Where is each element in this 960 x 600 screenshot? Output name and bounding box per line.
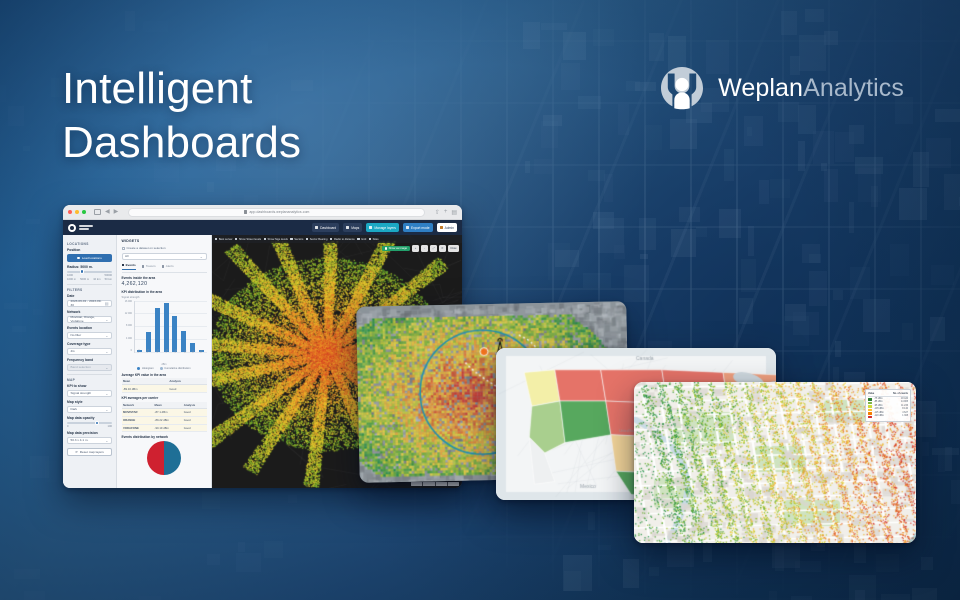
antenna-icon xyxy=(142,265,145,268)
radius-step-2: 10 km xyxy=(93,278,100,281)
chart-legend-item-0: Histogram xyxy=(137,367,153,370)
widgets-selection-select[interactable]: All⌄ xyxy=(122,253,207,261)
map-chip-sector-bearing[interactable]: Sector Bearing xyxy=(306,238,328,241)
sidebar-section-locations: LOCATIONS xyxy=(67,242,112,246)
header-button-manage-layers-label: Manage layers xyxy=(374,226,396,230)
sidebar-label-coverage: Coverage type xyxy=(67,342,112,346)
carrier-analysis: Good xyxy=(182,409,206,417)
map-chip-label: Sectors xyxy=(294,238,303,241)
chart-x-axis: -120-115-110-105-100-95-90-85 xyxy=(134,353,207,363)
legend-title: Value xyxy=(868,392,893,395)
carrier-col-analysis: Analysis xyxy=(182,402,206,409)
zoom-out-button[interactable]: - xyxy=(421,245,428,252)
map-chip-sigs-levels[interactable]: Show Sigs levels xyxy=(264,238,288,241)
forward-icon[interactable]: ▶ xyxy=(114,209,119,215)
carrier-col-network: Network xyxy=(122,402,154,409)
chart-legend-item-1: Cumulative distribution xyxy=(160,367,191,370)
date-range-input[interactable]: 2023-09-01 - 2023-09-30▤ xyxy=(67,300,112,308)
sector-icon xyxy=(290,238,292,240)
legend-row: -120 dBm1 308 xyxy=(868,415,908,418)
widgets-title: WIDGETS xyxy=(122,239,207,243)
carrier-mean: -87.1 dBm xyxy=(153,409,182,417)
legend-label: -120 dBm xyxy=(874,415,900,418)
tab-towers-label: Towers xyxy=(146,264,156,268)
events-location-value: No filter xyxy=(71,333,82,337)
carrier-mean: -90.19 dBm xyxy=(153,424,182,432)
chart-y-tick: 0 xyxy=(131,350,132,352)
chart-y-tick: 16 000 xyxy=(125,301,132,303)
widgets-panel[interactable]: WIDGETS Create a dataset on selection Al… xyxy=(117,235,212,488)
app-header: Dashboard Maps Manage layers Export mode… xyxy=(63,220,462,235)
sidebar-label-frequency: Frequency band xyxy=(67,358,112,362)
carrier-network: MOVISTAR xyxy=(122,409,154,417)
tab-alerts[interactable]: Alerts xyxy=(162,263,174,270)
zoom-in-button[interactable]: + xyxy=(412,245,419,252)
maximize-icon[interactable] xyxy=(82,210,86,214)
legend-swatch xyxy=(868,398,872,401)
carrier-analysis: Good xyxy=(182,416,206,424)
url-bar[interactable]: app.dashboards.weplananalytics.com xyxy=(128,208,425,217)
legend-swatch xyxy=(868,409,872,412)
sidebar-label-radius: Radius: 5000 m. xyxy=(67,265,112,269)
chart-plot-area xyxy=(134,301,207,353)
checkbox-icon xyxy=(122,247,125,250)
share-icon[interactable]: ⇧ xyxy=(435,209,440,216)
coverage-type-value: 4G xyxy=(71,349,75,353)
chart-x-label: dBm xyxy=(122,363,207,366)
carrier-kpi-table: Network Mean Analysis MOVISTAR -87.1 dBm… xyxy=(122,402,207,433)
radius-step-1: 5000 m xyxy=(80,278,89,281)
kpi-distribution-chart: 16 00012 0008 0004 0000 xyxy=(122,301,207,353)
map-chip-label: Radio to distance xyxy=(334,238,355,241)
show-as-image-button[interactable]: Show as image xyxy=(382,246,410,252)
avg-kpi-mean-value: -89.16 dBm xyxy=(122,385,168,393)
reset-map-layers-label: Reset map layers xyxy=(80,450,104,454)
sidebar-label-opacity: Map data opacity xyxy=(67,416,112,420)
app-logo-mark-icon xyxy=(68,224,76,232)
sidebar-label-kpi: KPI to show xyxy=(67,384,112,388)
radius-tick-max: 50000 xyxy=(105,274,112,277)
map-chip-label: Sector Bearing xyxy=(310,238,328,241)
header-button-export-mode[interactable]: Export mode xyxy=(403,223,433,232)
header-button-maps-label: Maps xyxy=(351,226,359,230)
kpi-value: Signal strength xyxy=(71,391,92,395)
kpi-select[interactable]: Signal strength⌄ xyxy=(67,390,112,398)
header-button-dashboard-label: Dashboard xyxy=(320,226,336,230)
radius-tick-min: 1000 xyxy=(67,274,73,277)
opacity-slider[interactable]: 0 100 xyxy=(67,422,112,428)
create-dataset-checkbox[interactable]: Create a dataset on selection xyxy=(122,246,207,250)
weplan-circle-logo-icon xyxy=(658,64,706,112)
plus-icon[interactable]: + xyxy=(444,209,448,215)
ruler-icon xyxy=(330,238,332,240)
carrier-col-mean: Mean xyxy=(153,402,182,409)
legend-count: 1 308 xyxy=(902,415,908,418)
show-as-image-label: Show as image xyxy=(389,247,407,250)
street-icon xyxy=(235,238,237,240)
avg-kpi-col-mean: Mean xyxy=(122,378,168,385)
header-button-admin-label: Admin xyxy=(445,226,454,230)
map-chip-sectors[interactable]: Sectors xyxy=(290,238,303,241)
export-icon xyxy=(406,226,409,229)
legend-rows: -75 dBm18 420-85 dBm14 905-95 dBm11 233-… xyxy=(868,398,908,419)
tab-events[interactable]: Events xyxy=(122,263,136,270)
table-header-row: Mean Analysis xyxy=(122,378,207,385)
brand-name-primary: Weplan xyxy=(718,74,803,102)
reset-map-layers-button[interactable]: ↺Reset map layers xyxy=(67,448,112,456)
kpi-chart-subtitle: Signal strength xyxy=(122,296,207,299)
load-locations-label: Load locations xyxy=(82,256,102,260)
pie-shape xyxy=(147,441,181,475)
sidebar-label-position: Position xyxy=(67,248,112,252)
tower-icon xyxy=(369,238,371,240)
minimize-icon[interactable] xyxy=(75,210,79,214)
chevron-down-icon: ⌄ xyxy=(105,391,108,396)
carrier-mean: -89.22 dBm xyxy=(153,416,182,424)
table-row: ORANGE -89.22 dBm Good xyxy=(122,416,207,424)
brand-name-secondary: Analytics xyxy=(803,74,904,102)
chart-y-axis: 16 00012 0008 0004 0000 xyxy=(122,301,134,353)
chart-bar xyxy=(172,316,177,351)
grid-icon xyxy=(357,238,359,240)
page-title: Intelligent Dashboards xyxy=(62,62,301,169)
legend-swatch xyxy=(868,412,872,415)
map-precision-select[interactable]: 50.3 x 4.1 m.⌄ xyxy=(67,437,112,445)
chart-bar xyxy=(181,331,186,351)
opacity-tick-max: 100 xyxy=(108,425,112,428)
events-inside-value: 4,262,120 xyxy=(122,281,207,287)
header-button-admin[interactable]: Admin xyxy=(437,223,457,232)
network-pie-chart xyxy=(122,441,207,475)
grid-icon xyxy=(315,226,318,229)
chevron-down-icon: ⌄ xyxy=(105,407,108,412)
chart-bar xyxy=(164,303,169,351)
app-logo-text xyxy=(79,225,93,229)
chevron-down-icon: ⌄ xyxy=(105,438,108,443)
frequency-band-select[interactable]: Band selection⌄ xyxy=(67,364,112,372)
chevron-down-icon: ⌄ xyxy=(200,254,203,259)
table-row: -89.16 dBm Good xyxy=(122,385,207,393)
radius-step-0: 1000 m xyxy=(67,278,76,281)
map-chip-street-levels[interactable]: Show Street levels xyxy=(235,238,261,241)
map-chip-label: Show Sigs levels xyxy=(268,238,288,241)
window-controls[interactable] xyxy=(68,210,86,214)
browser-toolbar: ◀ ▶ app.dashboards.weplananalytics.com ⇧… xyxy=(63,205,462,220)
legend-swatch xyxy=(868,405,872,408)
events-inside-heading: Events inside the area xyxy=(122,276,207,280)
header-button-dashboard[interactable]: Dashboard xyxy=(312,223,339,232)
chevron-down-icon: ⌄ xyxy=(105,349,108,354)
load-locations-button[interactable]: Load locations xyxy=(67,254,112,262)
map-chip-radio-distance[interactable]: Radio to distance xyxy=(330,238,355,241)
legend-swatch xyxy=(868,416,872,419)
date-range-value: 2023-09-01 - 2023-09-30 xyxy=(71,299,105,307)
avg-kpi-heading: Average KPI value in the area xyxy=(122,373,207,377)
signal-icon xyxy=(264,238,266,240)
close-icon[interactable] xyxy=(68,210,72,214)
pin-icon xyxy=(77,257,80,260)
app-logo[interactable] xyxy=(68,224,93,232)
draw-button[interactable]: Draw xyxy=(448,245,459,252)
lock-icon xyxy=(244,210,247,214)
city-street-heatmap-card[interactable]: Value No. of events -75 dBm18 420-85 dBm… xyxy=(634,382,916,543)
sidebar-label-events-location: Events location xyxy=(67,326,112,330)
table-row: MOVISTAR -87.1 dBm Good xyxy=(122,409,207,417)
carrier-kpi-heading: KPI averages per carrier xyxy=(122,396,207,400)
radius-slider[interactable]: 1000 50000 1000 m 5000 m 10 km 50 km xyxy=(67,271,112,281)
chevron-down-icon: ⌄ xyxy=(105,317,108,322)
bearing-icon xyxy=(306,238,308,240)
carrier-network: ORANGE xyxy=(122,416,154,424)
tab-events-label: Events xyxy=(126,263,136,267)
sidebar-label-date: Date xyxy=(67,294,112,298)
header-button-export-mode-label: Export mode xyxy=(411,226,430,230)
legend-column: No. of events xyxy=(893,392,908,395)
map-controls[interactable]: Show as image + - ⤢ ⟳ Draw xyxy=(382,245,459,252)
chart-y-tick: 4 000 xyxy=(126,338,132,340)
sidebar-label-map-style: Map style xyxy=(67,400,112,404)
layers-icon xyxy=(369,226,372,229)
sidebar-divider-2 xyxy=(67,374,112,375)
chevron-down-icon: ⌄ xyxy=(105,365,108,370)
sidebar-divider xyxy=(67,284,112,285)
refresh-icon: ↺ xyxy=(75,450,78,454)
carrier-network: VODAFONE xyxy=(122,424,154,432)
header-button-maps[interactable]: Maps xyxy=(343,223,362,232)
avg-kpi-col-analysis: Analysis xyxy=(168,378,207,385)
map-legend: Value No. of events -75 dBm18 420-85 dBm… xyxy=(865,389,911,422)
warning-icon xyxy=(162,265,165,268)
table-row: VODAFONE -90.19 dBm Good xyxy=(122,424,207,432)
bolt-icon xyxy=(122,264,125,267)
map-icon xyxy=(346,226,349,229)
tab-alerts-label: Alerts xyxy=(166,264,174,268)
map-chip-label: Sites xyxy=(373,238,379,241)
sidebar-section-filters: FILTERS xyxy=(67,288,112,292)
map-chip-grid[interactable]: Grid xyxy=(357,238,366,241)
chart-legend: Histogram Cumulative distribution xyxy=(122,367,207,370)
camera-icon xyxy=(385,247,387,249)
chart-bar xyxy=(155,308,160,351)
carrier-analysis: Good xyxy=(182,424,206,432)
map-style-value: Dark xyxy=(71,407,78,411)
frequency-band-value: Band selection xyxy=(71,365,91,369)
network-value: Movistar, Orange, Vodafone xyxy=(71,315,106,323)
events-location-select[interactable]: No filter⌄ xyxy=(67,332,112,340)
sidebar-label-network: Network xyxy=(67,310,112,314)
map-chip-label: Show Street levels xyxy=(239,238,261,241)
table-header-row: Network Mean Analysis xyxy=(122,402,207,409)
sidebar-label-precision: Map data precision xyxy=(67,431,112,435)
map-chip-sites[interactable]: Sites xyxy=(369,238,379,241)
sidebar-panel[interactable]: LOCATIONS Position Load locations Radius… xyxy=(63,235,117,488)
header-button-manage-layers[interactable]: Manage layers xyxy=(366,223,399,232)
brand-wordmark: WeplanAnalytics xyxy=(718,74,904,103)
chart-y-tick: 8 000 xyxy=(126,325,132,327)
pie-heading: Events distribution by network xyxy=(122,435,207,439)
radius-step-3: 50 km xyxy=(105,278,112,281)
fullscreen-button[interactable]: ⤢ xyxy=(430,245,437,252)
server-icon xyxy=(215,238,217,240)
tab-towers[interactable]: Towers xyxy=(142,263,156,270)
sidebar-toggle-icon[interactable] xyxy=(94,209,101,215)
map-scale-bar xyxy=(411,482,459,486)
brand-lockup: WeplanAnalytics xyxy=(658,64,904,112)
chart-y-tick: 12 000 xyxy=(125,313,132,315)
user-icon xyxy=(440,226,443,229)
avg-kpi-analysis-value: Good xyxy=(168,385,207,393)
reset-view-button[interactable]: ⟳ xyxy=(439,245,446,252)
kpi-chart-title: KPI distribution in the area xyxy=(122,290,207,294)
chart-bars xyxy=(135,301,207,352)
avg-kpi-table: Mean Analysis -89.16 dBm Good xyxy=(122,378,207,393)
map-chip-label: Best server xyxy=(219,238,233,241)
map-precision-value: 50.3 x 4.1 m. xyxy=(71,438,89,442)
calendar-icon: ▤ xyxy=(105,301,109,306)
map-chip-label: Grid xyxy=(361,238,366,241)
sidebar-section-map: MAP xyxy=(67,378,112,382)
url-text: app.dashboards.weplananalytics.com xyxy=(250,210,310,214)
widgets-selection-value: All xyxy=(125,254,128,258)
create-dataset-label: Create a dataset on selection xyxy=(127,246,166,250)
legend-header: Value No. of events xyxy=(868,392,908,397)
back-icon[interactable]: ◀ xyxy=(105,209,110,215)
coverage-type-select[interactable]: 4G⌄ xyxy=(67,348,112,356)
map-chip-best-server[interactable]: Best server xyxy=(215,238,232,241)
chevron-down-icon: ⌄ xyxy=(105,333,108,338)
opacity-tick-min: 0 xyxy=(67,425,69,428)
network-select[interactable]: Movistar, Orange, Vodafone⌄ xyxy=(67,316,112,324)
map-toolbar[interactable]: Best server Show Street levels Show Sigs… xyxy=(212,235,462,243)
widgets-tabs[interactable]: Events Towers Alerts xyxy=(122,263,207,273)
map-style-select[interactable]: Dark⌄ xyxy=(67,406,112,414)
browser-actions[interactable]: ⇧ + ▤ xyxy=(435,209,457,216)
tabs-icon[interactable]: ▤ xyxy=(451,209,457,216)
